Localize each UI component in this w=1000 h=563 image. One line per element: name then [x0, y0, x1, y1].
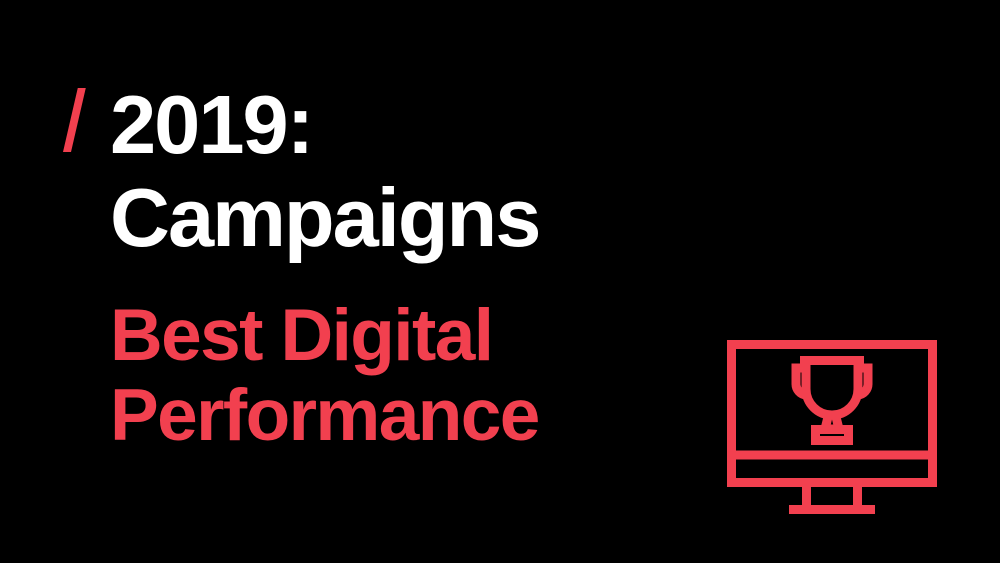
award-name-line-1: Best Digital: [110, 296, 692, 376]
award-name-line-2: Performance: [110, 376, 692, 456]
page-title-year: 2019:: [52, 78, 692, 171]
headline-text-block: 2019: Campaigns Best Digital Performance: [52, 78, 692, 456]
subtitle-block: Best Digital Performance: [52, 296, 692, 456]
headline-row: 2019:: [52, 78, 692, 171]
page-title-category: Campaigns: [52, 171, 692, 264]
monitor-trophy-icon: [720, 333, 944, 523]
monitor-trophy-svg: [720, 333, 944, 523]
award-slide: 2019: Campaigns Best Digital Performance: [0, 0, 1000, 563]
